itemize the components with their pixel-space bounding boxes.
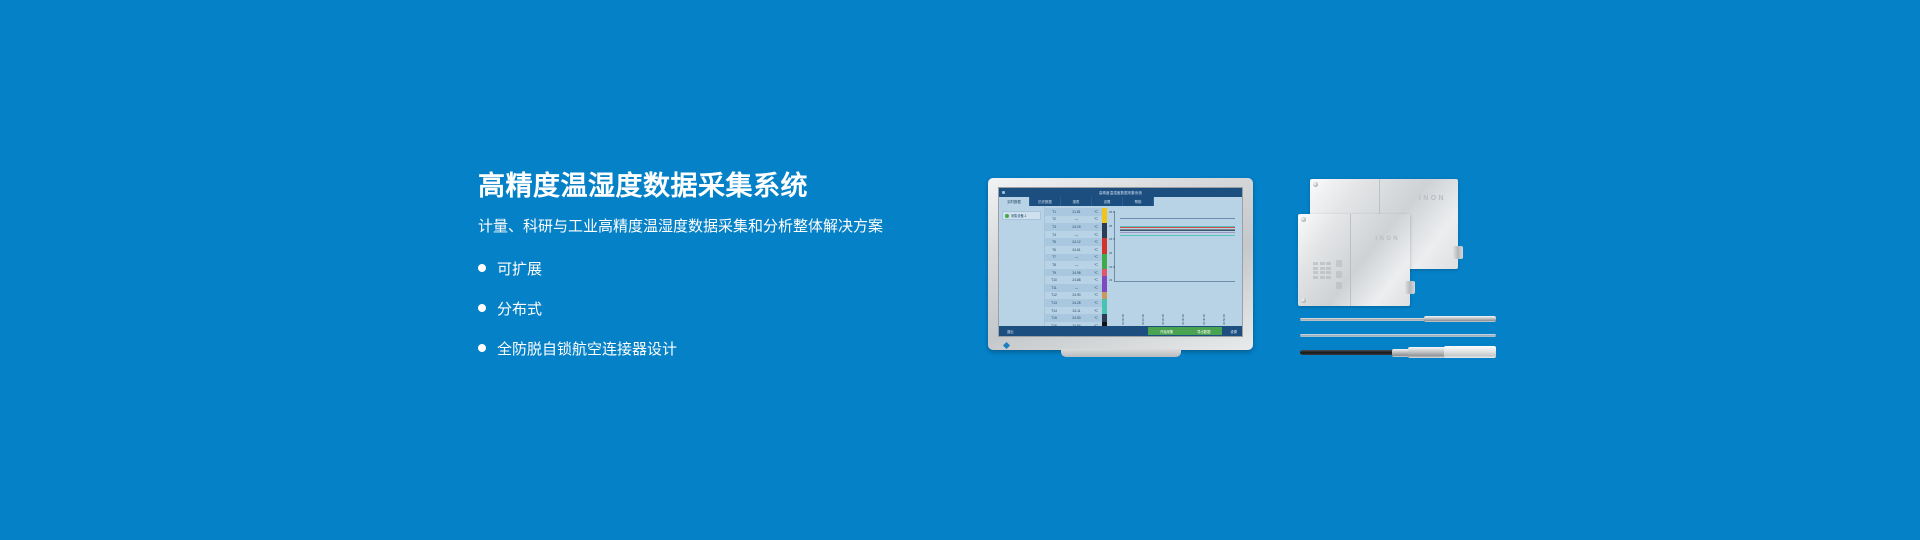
- probe-cable: [1300, 318, 1428, 321]
- trend-chart: 25.52524.52423.523 10:00:0010:10:0010:20…: [1107, 206, 1242, 326]
- channel-table: T121.81℃T2—℃T324.19℃T4—℃T524.12℃T624.61℃…: [1045, 206, 1107, 326]
- copy-block: 高精度温湿度数据采集系统 计量、科研与工业高精度温湿度数据采集和分析整体解决方案…: [478, 172, 958, 378]
- feature-label: 分布式: [497, 298, 542, 319]
- probe-tip: [1424, 316, 1496, 322]
- feature-label: 全防脱自锁航空连接器设计: [497, 338, 677, 359]
- channel-value: 24.19: [1063, 225, 1090, 229]
- chart-series-line: [1120, 230, 1235, 231]
- table-row[interactable]: T2—℃: [1045, 216, 1107, 224]
- chart-y-axis: [1114, 211, 1115, 282]
- port-group-icon: [1336, 260, 1342, 289]
- table-row[interactable]: T1224.90℃: [1045, 292, 1107, 300]
- channel-label: T6: [1045, 248, 1063, 252]
- table-row[interactable]: T1524.90℃: [1045, 314, 1107, 322]
- channel-unit: ℃: [1090, 263, 1102, 267]
- table-row[interactable]: T624.61℃: [1045, 246, 1107, 254]
- tab-realtime[interactable]: 实时数据: [999, 197, 1030, 206]
- app-titlebar: 高精度温湿度数据采集系统: [999, 188, 1242, 197]
- promo-banner: 高精度温湿度数据采集系统 计量、科研与工业高精度温湿度数据采集和分析整体解决方案…: [0, 0, 1920, 540]
- page-title: 高精度温湿度数据采集系统: [478, 172, 958, 202]
- probe-sensor-housing: [1444, 346, 1496, 358]
- channel-label: T2: [1045, 217, 1063, 221]
- feature-label: 可扩展: [497, 258, 542, 279]
- table-row[interactable]: T7—℃: [1045, 254, 1107, 262]
- spec-label-icon: [1313, 262, 1331, 279]
- device-product-images: INON INON: [1298, 176, 1498, 366]
- channel-label: T15: [1045, 316, 1063, 320]
- channel-label: T1: [1045, 210, 1063, 214]
- tab-history[interactable]: 历史数据: [1030, 197, 1061, 206]
- list-item: 全防脱自锁航空连接器设计: [478, 338, 958, 359]
- app-tabbar: 实时数据 历史数据 报表 设置 帮助: [999, 197, 1242, 206]
- channel-value: 24.90: [1063, 316, 1090, 320]
- table-row[interactable]: T8—℃: [1045, 261, 1107, 269]
- app-menu-icon[interactable]: [1002, 191, 1005, 194]
- channel-label: T4: [1045, 233, 1063, 237]
- monitor-product-image: 高精度温湿度数据采集系统 实时数据 历史数据 报表 设置 帮助 采集设备-1 T…: [988, 178, 1253, 350]
- list-item: 分布式: [478, 298, 958, 319]
- channel-value: 24.28: [1063, 301, 1090, 305]
- chart-x-tick: 10:20:00: [1161, 314, 1165, 325]
- channel-unit: ℃: [1090, 240, 1102, 244]
- bullet-icon: [478, 264, 486, 272]
- device-brand-label: INON: [1419, 195, 1446, 202]
- table-row[interactable]: T924.98℃: [1045, 269, 1107, 277]
- channel-value: —: [1063, 286, 1090, 290]
- screw-icon: [1301, 298, 1306, 303]
- channel-label: T11: [1045, 286, 1063, 290]
- table-row[interactable]: T324.19℃: [1045, 223, 1107, 231]
- channel-unit: ℃: [1090, 309, 1102, 313]
- channel-value: 24.98: [1063, 271, 1090, 275]
- monitor-stand: [1061, 349, 1181, 357]
- bullet-icon: [478, 304, 486, 312]
- channel-label: T3: [1045, 225, 1063, 229]
- tab-help[interactable]: 帮助: [1123, 197, 1154, 206]
- channel-unit: ℃: [1090, 293, 1102, 297]
- chart-x-tick: 10:40:00: [1202, 314, 1206, 325]
- chart-y-tick: 24: [1109, 251, 1112, 255]
- probe-connector: [1300, 346, 1496, 358]
- table-row[interactable]: T1324.28℃: [1045, 299, 1107, 307]
- tab-report[interactable]: 报表: [1061, 197, 1092, 206]
- table-row[interactable]: T121.81℃: [1045, 208, 1107, 216]
- exit-button[interactable]: 退出: [1002, 328, 1019, 335]
- chart-series-line: [1120, 218, 1235, 219]
- monitor-screen: 高精度温湿度数据采集系统 实时数据 历史数据 报表 设置 帮助 采集设备-1 T…: [998, 187, 1243, 337]
- chart-x-tick: 10:50:00: [1222, 314, 1226, 325]
- screw-icon: [1313, 182, 1318, 187]
- channel-label: T13: [1045, 301, 1063, 305]
- channel-value: 21.81: [1063, 210, 1090, 214]
- channel-unit: ℃: [1090, 286, 1102, 290]
- chart-y-tick: 24.5: [1109, 237, 1115, 241]
- table-row[interactable]: T4—℃: [1045, 231, 1107, 239]
- channel-unit: ℃: [1090, 278, 1102, 282]
- chart-plot-area: 25.52524.52423.523: [1110, 209, 1238, 300]
- channel-unit: ℃: [1090, 210, 1102, 214]
- enclosure-seam: [1350, 214, 1351, 306]
- start-capture-button[interactable]: 开始采集: [1148, 327, 1185, 335]
- page-subtitle: 计量、科研与工业高精度温湿度数据采集和分析整体解决方案: [478, 218, 958, 236]
- chart-x-tick: 10:10:00: [1141, 314, 1145, 325]
- chart-x-tick: 10:30:00: [1181, 314, 1185, 325]
- channel-label: T14: [1045, 309, 1063, 313]
- device-brand-label: INON: [1375, 236, 1400, 242]
- app-window-title: 高精度温湿度数据采集系统: [1099, 190, 1142, 195]
- probe-thin: [1300, 333, 1496, 337]
- app-footer: 退出 开始采集 导出数据 设置: [999, 326, 1242, 336]
- channel-value: —: [1063, 233, 1090, 237]
- feature-list: 可扩展 分布式 全防脱自锁航空连接器设计: [478, 258, 958, 359]
- settings-button[interactable]: 设置: [1225, 328, 1242, 335]
- channel-label: T9: [1045, 271, 1063, 275]
- channel-value: 24.88: [1063, 278, 1090, 282]
- status-led-icon: [1005, 214, 1009, 218]
- chart-y-tick: 25.5: [1109, 210, 1115, 214]
- channel-label: T8: [1045, 263, 1063, 267]
- channel-value: 24.61: [1063, 248, 1090, 252]
- table-row[interactable]: T1424.11℃: [1045, 307, 1107, 315]
- app-body: 采集设备-1 T121.81℃T2—℃T324.19℃T4—℃T524.12℃T…: [999, 206, 1242, 326]
- channel-unit: ℃: [1090, 255, 1102, 259]
- channel-unit: ℃: [1090, 316, 1102, 320]
- table-row[interactable]: T11—℃: [1045, 284, 1107, 292]
- table-row[interactable]: T1024.88℃: [1045, 276, 1107, 284]
- sidebar-item-device[interactable]: 采集设备-1: [1002, 211, 1041, 220]
- channel-unit: ℃: [1090, 271, 1102, 275]
- channel-label: T7: [1045, 255, 1063, 259]
- channel-value: —: [1063, 255, 1090, 259]
- enclosure-front: INON: [1298, 214, 1410, 306]
- channel-unit: ℃: [1090, 225, 1102, 229]
- probe-cable: [1300, 350, 1396, 355]
- probe-cable: [1300, 334, 1496, 337]
- screw-icon: [1301, 217, 1306, 222]
- channel-unit: ℃: [1090, 217, 1102, 221]
- channel-value: —: [1063, 217, 1090, 221]
- cable-gland-icon: [1453, 246, 1463, 259]
- channel-value: 24.11: [1063, 309, 1090, 313]
- export-data-button[interactable]: 导出数据: [1185, 327, 1222, 335]
- probe-connector-body: [1408, 347, 1446, 358]
- channel-unit: ℃: [1090, 301, 1102, 305]
- channel-label: T12: [1045, 293, 1063, 297]
- probe-braided: [1300, 316, 1496, 323]
- channel-unit: ℃: [1090, 233, 1102, 237]
- chart-y-tick: 23: [1109, 278, 1112, 282]
- chart-series-line: [1120, 232, 1235, 233]
- bullet-icon: [478, 344, 486, 352]
- device-sidebar: 采集设备-1: [999, 206, 1045, 326]
- chart-x-tick: 10:00:00: [1121, 314, 1125, 325]
- channel-label: T10: [1045, 278, 1063, 282]
- cable-gland-icon: [1405, 281, 1415, 294]
- tabbar-filler: [1154, 197, 1242, 206]
- device-node-label: 采集设备-1: [1011, 213, 1027, 218]
- channel-label: T5: [1045, 240, 1063, 244]
- channel-value: —: [1063, 263, 1090, 267]
- list-item: 可扩展: [478, 258, 958, 279]
- table-row[interactable]: T524.12℃: [1045, 238, 1107, 246]
- channel-value: 24.90: [1063, 293, 1090, 297]
- channel-value: 24.12: [1063, 240, 1090, 244]
- channel-unit: ℃: [1090, 248, 1102, 252]
- chart-y-tick: 25: [1109, 224, 1112, 228]
- tab-settings[interactable]: 设置: [1092, 197, 1123, 206]
- chart-series-line: [1120, 235, 1235, 236]
- chart-x-axis: [1114, 281, 1236, 282]
- chart-y-tick: 23.5: [1109, 265, 1115, 269]
